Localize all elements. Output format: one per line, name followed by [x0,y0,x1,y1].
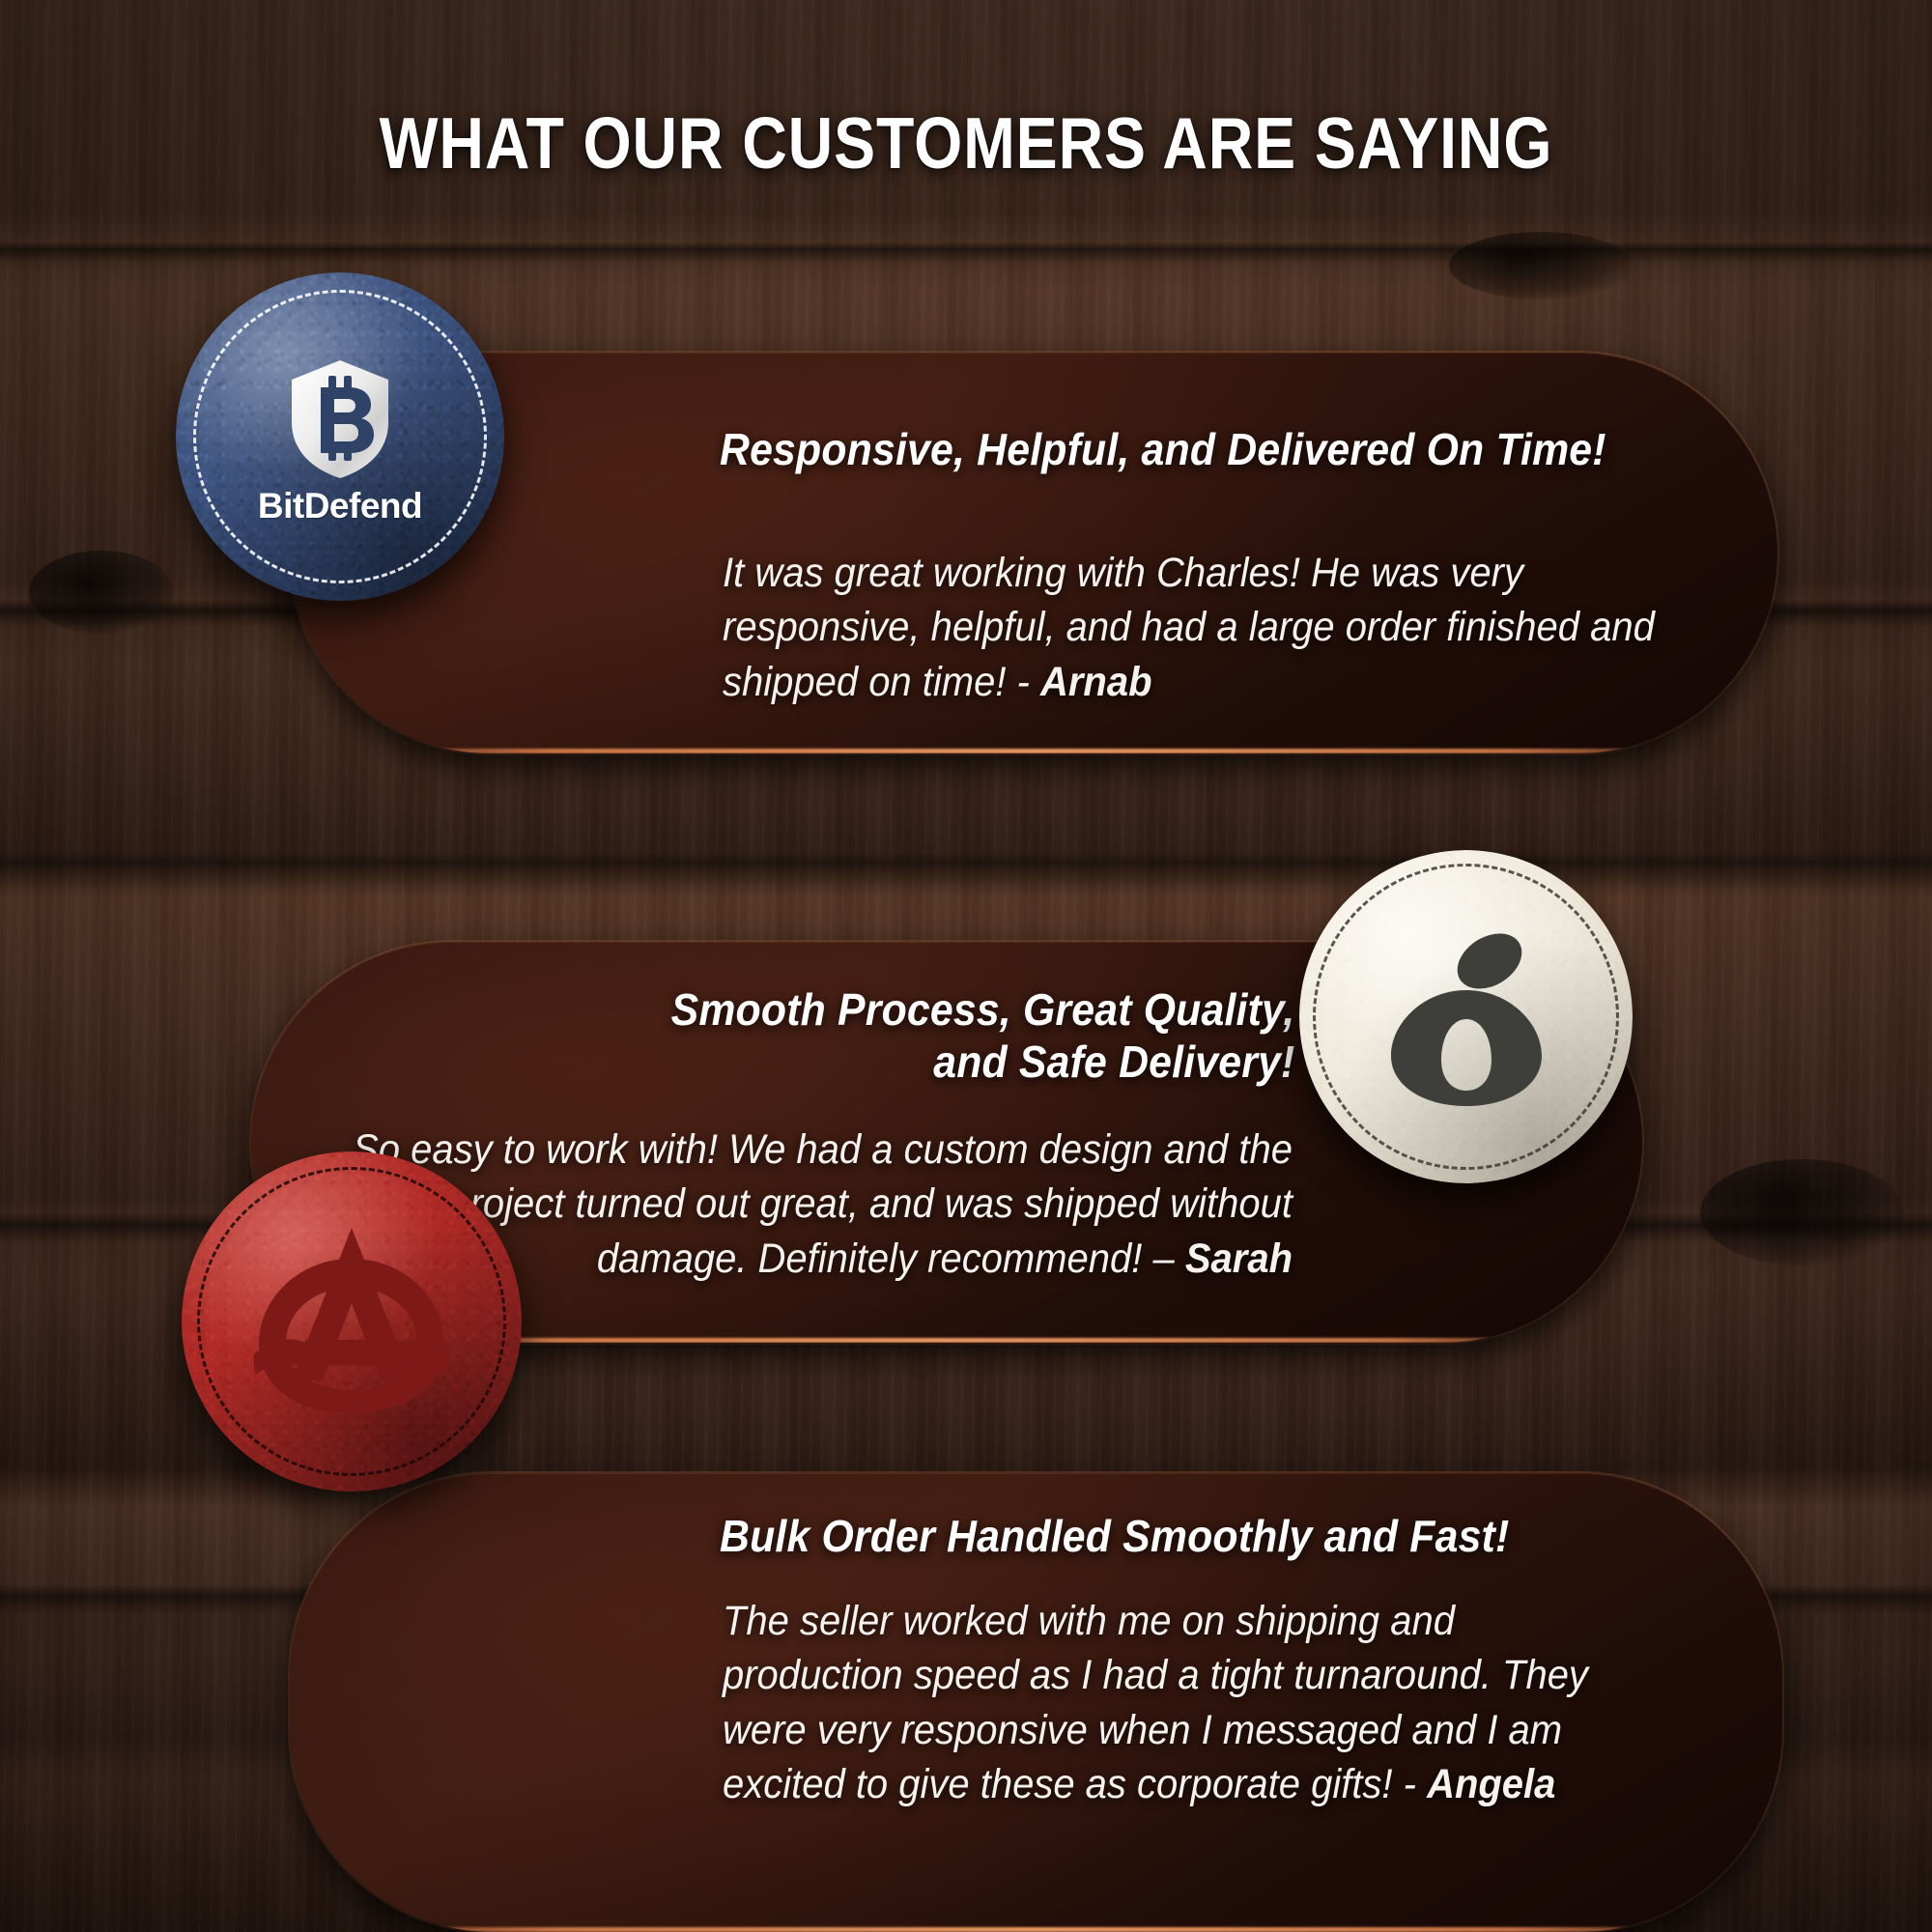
testimonial-3-author: Angela [1427,1761,1555,1807]
coaster-logo-area [1299,850,1633,1183]
coaster-logo-area: BitDefend [176,272,504,601]
testimonial-1-quote-text: It was great working with Charles! He wa… [723,550,1655,705]
shield-bitcoin-icon [286,358,394,480]
testimonial-1-author: Arnab [1040,659,1152,705]
testimonial-3-quote: The seller worked with me on shipping an… [723,1594,1603,1811]
page-title: WHAT OUR CUSTOMERS ARE SAYING [135,101,1797,185]
testimonial-2-headline-line1: Smooth Process, Great Quality, [670,984,1294,1035]
coaster-logo-area [182,1151,522,1492]
testimonial-2-author: Sarah [1185,1236,1293,1282]
abstract-fruit-icon [1381,926,1551,1108]
wood-knot [29,551,174,634]
testimonial-1-headline: Responsive, Helpful, and Delivered On Ti… [720,423,1606,475]
anarchy-a-icon [245,1220,458,1423]
testimonial-1-quote: It was great working with Charles! He wa… [723,546,1675,709]
testimonial-2-headline: Smooth Process, Great Quality,and Safe D… [670,983,1294,1089]
testimonial-2-headline-line2: and Safe Delivery! [933,1037,1294,1087]
coaster-cream[interactable] [1299,850,1633,1183]
wood-knot [1449,232,1633,299]
coaster-wordmark: BitDefend [258,486,422,526]
coaster-bitdefend[interactable]: BitDefend [176,272,504,601]
wood-knot [1700,1159,1903,1265]
coaster-red[interactable] [182,1151,522,1492]
testimonial-3-headline: Bulk Order Handled Smoothly and Fast! [720,1510,1509,1562]
